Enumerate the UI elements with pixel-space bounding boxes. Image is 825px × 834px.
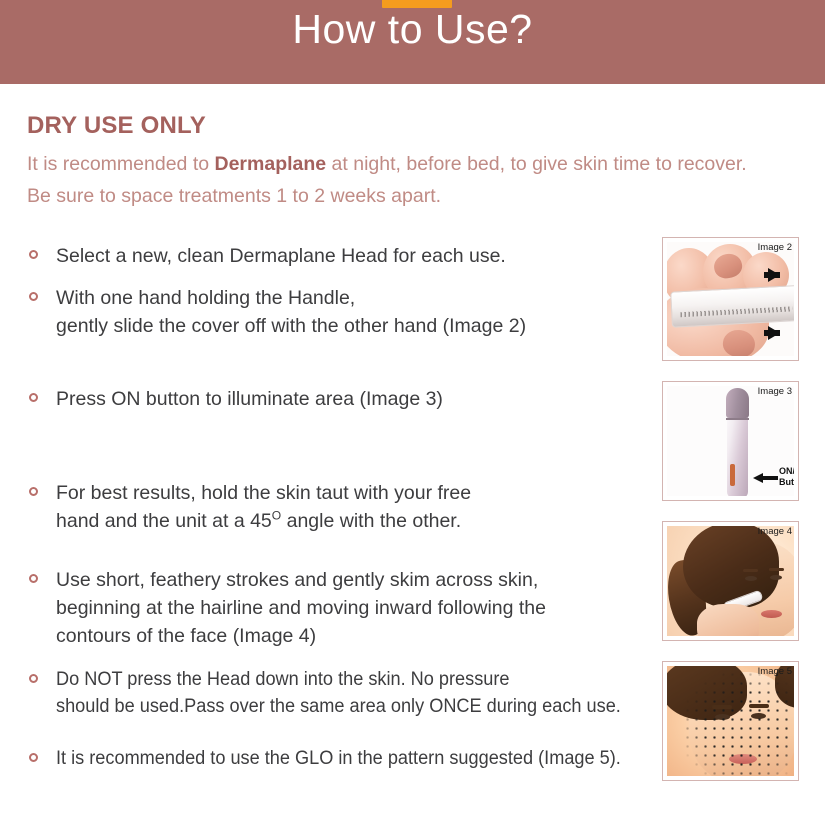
eye-shape [770, 575, 782, 580]
lips-shape [761, 610, 782, 618]
intro-paragraph: It is recommended to Dermaplane at night… [27, 148, 817, 212]
annotation-line-1: ON/OFF [779, 466, 794, 476]
on-off-button [730, 464, 735, 486]
device-seam [726, 418, 749, 420]
image-caption: Image 5 [758, 666, 792, 677]
content-area: DRY USE ONLY It is recommended to Dermap… [0, 84, 825, 834]
annotation-line-2: Button [779, 477, 794, 487]
image-panel-2: Image 2 [662, 237, 799, 361]
list-item-line: Do NOT press the Head down into the skin… [56, 666, 621, 693]
bullet-marker-icon [29, 674, 38, 683]
page-title: How to Use? [0, 6, 825, 53]
list-item-line: Use short, feathery strokes and gently s… [56, 566, 546, 594]
bullet-marker-icon [29, 393, 38, 402]
list-item: Do NOT press the Head down into the skin… [27, 666, 647, 720]
image-caption: Image 2 [758, 242, 792, 253]
image-panel-3: ON/OFF Button Image 3 [662, 381, 799, 501]
dermaplane-device [670, 284, 794, 327]
list-item-line: beginning at the hairline and moving inw… [56, 594, 546, 622]
treatment-pattern-dots [683, 670, 794, 776]
intro-text-before: It is recommended to [27, 153, 215, 175]
degree-text-after: angle with the other. [281, 510, 461, 532]
image-panel-4: Image 4 [662, 521, 799, 641]
arrow-right-icon [768, 326, 780, 340]
list-item: With one hand holding the Handle, gently… [27, 284, 526, 340]
image-3-content: ON/OFF Button [667, 386, 794, 496]
arrow-right-icon [768, 268, 780, 282]
bullet-marker-icon [29, 250, 38, 259]
intro-brand-term: Dermaplane [215, 153, 327, 175]
bullet-marker-icon [29, 292, 38, 301]
hand-shape [697, 604, 759, 636]
image-caption: Image 3 [758, 386, 792, 397]
image-5-content [667, 666, 794, 776]
list-item: Use short, feathery strokes and gently s… [27, 566, 546, 650]
list-item-line: It is recommended to use the GLO in the … [56, 745, 621, 772]
image-2-content [667, 242, 794, 356]
list-item: For best results, hold the skin taut wit… [27, 479, 471, 535]
list-item: It is recommended to use the GLO in the … [27, 745, 647, 772]
arrow-left-icon [753, 473, 763, 483]
intro-line2: Be sure to space treatments 1 to 2 weeks… [27, 185, 441, 207]
list-item-line-degree: hand and the unit at a 45O angle with th… [56, 507, 471, 535]
page-header: How to Use? [0, 0, 825, 84]
image-panel-5: Image 5 [662, 661, 799, 781]
degree-symbol: O [272, 509, 281, 523]
list-item: Select a new, clean Dermaplane Head for … [27, 242, 506, 270]
bullet-marker-icon [29, 753, 38, 762]
list-item-line: With one hand holding the Handle, [56, 284, 526, 312]
list-item-line: For best results, hold the skin taut wit… [56, 479, 471, 507]
list-item-line: contours of the face (Image 4) [56, 622, 546, 650]
list-item: Press ON button to illuminate area (Imag… [27, 385, 443, 413]
image-4-content [667, 526, 794, 636]
bullet-marker-icon [29, 487, 38, 496]
eyebrow-shape [769, 568, 784, 571]
list-item-line: gently slide the cover off with the othe… [56, 312, 526, 340]
degree-text-before: hand and the unit at a 45 [56, 510, 272, 532]
intro-line1: It is recommended to Dermaplane at night… [27, 153, 747, 175]
list-item-line: should be used.Pass over the same area o… [56, 693, 621, 720]
on-off-annotation: ON/OFF Button [779, 466, 794, 488]
eye-shape [745, 576, 757, 581]
eyebrow-shape [743, 569, 758, 572]
image-caption: Image 4 [758, 526, 792, 537]
section-heading: DRY USE ONLY [27, 112, 206, 140]
list-item-line: Select a new, clean Dermaplane Head for … [56, 242, 506, 270]
list-item-line: Press ON button to illuminate area (Imag… [56, 385, 443, 413]
hair-shape [683, 526, 779, 608]
intro-text-after: at night, before bed, to give skin time … [326, 153, 747, 175]
device-cap [726, 388, 749, 418]
bullet-marker-icon [29, 574, 38, 583]
